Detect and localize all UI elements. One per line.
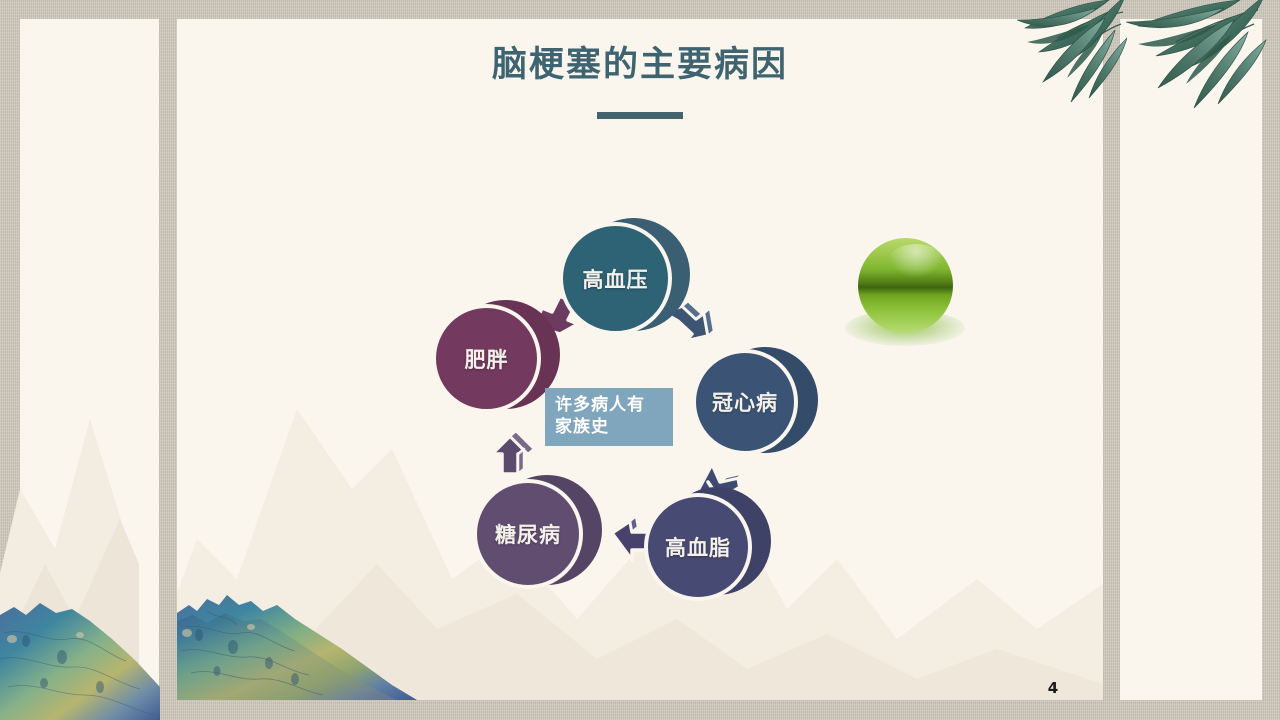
node-disc[interactable]: 肥胖 — [432, 304, 541, 413]
green-sphere — [858, 238, 953, 333]
page-title: 脑梗塞的主要病因 — [177, 42, 1103, 88]
center-caption-line-1: 许多病人有 — [555, 394, 665, 416]
title-underline-rule — [597, 112, 683, 119]
node-label: 高血脂 — [665, 532, 731, 562]
node-label: 高血压 — [583, 264, 649, 294]
center-caption-line-2: 家族史 — [555, 416, 665, 438]
node-label: 糖尿病 — [495, 519, 561, 549]
slide-canvas: 脑梗塞的主要病因 — [0, 0, 1280, 720]
node-disc[interactable]: 高血压 — [559, 222, 672, 335]
sphere-highlight — [888, 244, 944, 278]
arrow-diabetes-to-obesity — [492, 431, 534, 474]
node-label: 肥胖 — [465, 344, 509, 374]
side-panel-left — [20, 19, 159, 700]
node-label: 冠心病 — [712, 387, 778, 417]
node-disc[interactable]: 高血脂 — [644, 493, 752, 601]
green-sphere-decoration — [845, 238, 965, 348]
side-panel-right — [1120, 19, 1262, 700]
node-disc[interactable]: 糖尿病 — [473, 479, 583, 589]
node-disc[interactable]: 冠心病 — [692, 349, 798, 455]
center-caption-box: 许多病人有 家族史 — [545, 388, 673, 446]
page-number: 4 — [1040, 679, 1066, 697]
